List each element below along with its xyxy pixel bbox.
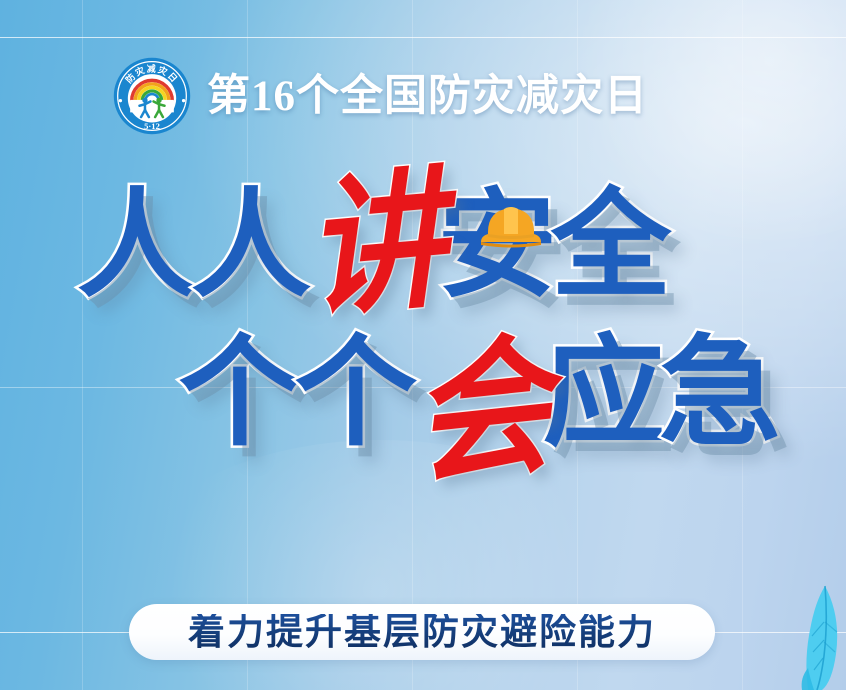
bottom-banner: 着力提升基层防灾避险能力 [129, 604, 715, 660]
headline: 人 人 讲 安 全 个 个 会 应 急 [0, 175, 846, 535]
headline-char: 安 [437, 186, 557, 304]
headline-char: 人 [77, 186, 197, 304]
disaster-prevention-emblem-icon: 防灾减灾日 5·12 [113, 57, 191, 135]
headline-char: 个 [295, 334, 417, 454]
grid-hline-top [0, 37, 846, 38]
headline-char: 急 [659, 334, 781, 454]
headline-char: 应 [543, 334, 665, 454]
header: 防灾减灾日 5·12 第16个全国防灾减灾日 [113, 57, 648, 135]
headline-char: 全 [551, 186, 671, 304]
headline-char: 个 [179, 334, 301, 454]
headline-char: 人 [191, 186, 311, 304]
bottom-banner-text: 着力提升基层防灾避险能力 [188, 614, 656, 651]
leaf-icon [784, 582, 846, 690]
headline-char-brush: 讲 [301, 175, 450, 316]
headline-line-2: 个 个 会 应 急 [180, 325, 776, 454]
headline-line-1: 人 人 讲 安 全 [78, 175, 666, 304]
emblem-date-text: 5·12 [144, 121, 160, 131]
headline-char-brush: 会 [406, 340, 557, 483]
poster-root: 防灾减灾日 5·12 第16个全国防灾减灾日 人 人 讲 安 全 个 个 会 应… [0, 0, 846, 690]
header-title: 第16个全国防灾减灾日 [207, 75, 648, 118]
